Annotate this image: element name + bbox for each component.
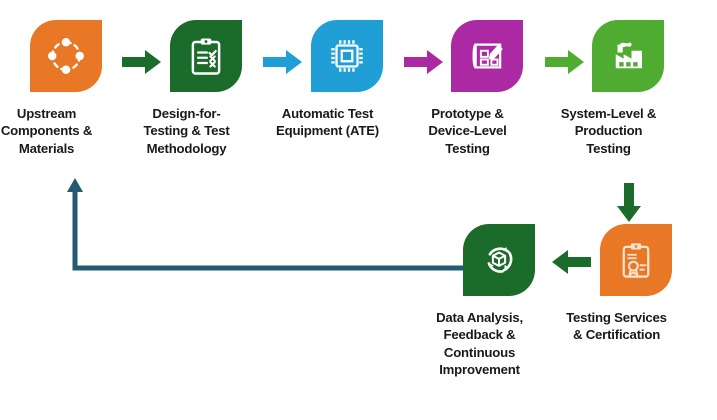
arrow-services-to-data	[551, 249, 591, 280]
process-node-data-analysis-feedback[interactable]: Data Analysis, Feedback & Continuous Imp…	[463, 224, 535, 379]
node-tile-upstream-components[interactable]	[30, 20, 102, 92]
node-tile-system-level-production-testing[interactable]	[592, 20, 664, 92]
blueprint-pencil-icon	[466, 35, 508, 77]
arrow-upstream-to-design	[122, 49, 162, 80]
arrow-system-to-services	[616, 183, 642, 228]
process-node-system-level-production-testing[interactable]: System-Level & Production Testing	[592, 20, 664, 157]
checklist-clipboard-icon	[185, 35, 227, 77]
node-label-prototype-device-level-testing: Prototype & Device-Level Testing	[393, 105, 543, 157]
process-node-automatic-test-equipment[interactable]: Automatic Test Equipment (ATE)	[311, 20, 383, 140]
arrow-design-to-ate	[263, 49, 303, 80]
node-tile-automatic-test-equipment[interactable]	[311, 20, 383, 92]
node-tile-design-for-testing[interactable]	[170, 20, 242, 92]
certificate-clipboard-icon	[615, 239, 657, 281]
node-label-data-analysis-feedback: Data Analysis, Feedback & Continuous Imp…	[405, 309, 555, 379]
process-node-design-for-testing[interactable]: Design-for- Testing & Test Methodology	[170, 20, 242, 157]
node-label-upstream-components: Upstream Components & Materials	[0, 105, 122, 157]
node-label-design-for-testing: Design-for- Testing & Test Methodology	[112, 105, 262, 157]
microchip-icon	[326, 35, 368, 77]
arrow-ate-to-prototype	[404, 49, 444, 80]
node-tile-testing-services-certification[interactable]	[600, 224, 672, 296]
recycle-box-icon	[478, 239, 520, 281]
node-label-system-level-production-testing: System-Level & Production Testing	[534, 105, 684, 157]
process-node-prototype-device-level-testing[interactable]: Prototype & Device-Level Testing	[451, 20, 523, 157]
process-node-upstream-components[interactable]: Upstream Components & Materials	[30, 20, 102, 157]
node-label-automatic-test-equipment: Automatic Test Equipment (ATE)	[253, 105, 403, 140]
process-flow-diagram: Upstream Components & Materials Design-f…	[0, 0, 717, 420]
factory-icon	[607, 35, 649, 77]
node-tile-data-analysis-feedback[interactable]	[463, 224, 535, 296]
node-tile-prototype-device-level-testing[interactable]	[451, 20, 523, 92]
process-node-testing-services-certification[interactable]: Testing Services & Certification	[600, 224, 672, 344]
node-label-testing-services-certification: Testing Services & Certification	[542, 309, 692, 344]
supply-network-icon	[44, 34, 88, 78]
arrow-prototype-to-system	[545, 49, 585, 80]
